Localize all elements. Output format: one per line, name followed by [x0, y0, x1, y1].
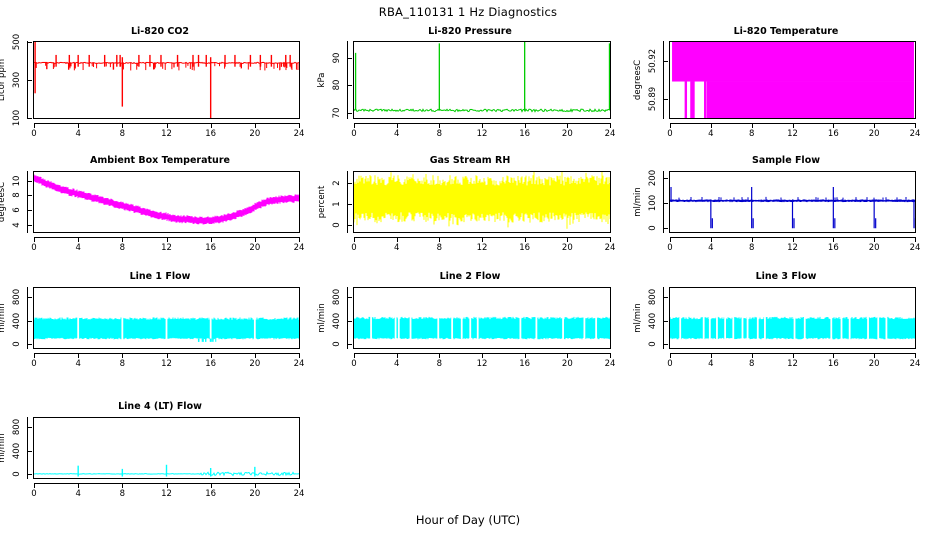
series-li-820-temperature: [670, 42, 915, 118]
y-tick-li-820-pressure-0: [347, 113, 352, 114]
x-tick-label-line-3-flow-5: 20: [862, 359, 886, 369]
panel-title-li-820-temperature: Li-820 Temperature: [636, 26, 936, 37]
x-tick-line-1-flow-0: [34, 353, 35, 358]
y-tick-li-820-co2-1: [27, 80, 32, 81]
x-tick-gas-stream-rh-0: [354, 237, 355, 242]
x-tick-label-li-820-pressure-5: 20: [555, 129, 579, 139]
y-tick-gas-stream-rh-1: [347, 204, 352, 205]
x-tick-line-4-lt-flow-3: [167, 483, 168, 488]
x-tick-label-sample-flow-6: 24: [903, 243, 927, 253]
y-tick-sample-flow-1: [663, 203, 668, 204]
x-tick-sample-flow-3: [793, 237, 794, 242]
x-tick-label-gas-stream-rh-3: 12: [470, 243, 494, 253]
x-tick-line-3-flow-2: [752, 353, 753, 358]
x-tick-label-li-820-co2-5: 20: [243, 129, 267, 139]
x-tick-li-820-co2-1: [78, 123, 79, 128]
x-tick-line-4-lt-flow-2: [122, 483, 123, 488]
x-tick-li-820-co2-5: [255, 123, 256, 128]
y-tick-label-line-1-flow-2: 800: [11, 277, 23, 317]
x-tick-label-ambient-box-temperature-6: 24: [287, 243, 311, 253]
x-tick-label-ambient-box-temperature-5: 20: [243, 243, 267, 253]
x-tick-label-line-2-flow-3: 12: [470, 359, 494, 369]
y-axis-label-line-3-flow: ml/min: [632, 267, 644, 369]
plot-area-sample-flow: [669, 171, 916, 233]
x-tick-label-li-820-co2-6: 24: [287, 129, 311, 139]
x-tick-label-li-820-co2-2: 8: [110, 129, 134, 139]
series-gas-stream-rh: [354, 172, 610, 232]
x-tick-label-li-820-pressure-1: 4: [385, 129, 409, 139]
x-tick-label-line-2-flow-4: 16: [513, 359, 537, 369]
x-tick-li-820-temperature-3: [793, 123, 794, 128]
y-tick-ambient-box-temperature-1: [27, 210, 32, 211]
x-tick-ambient-box-temperature-3: [167, 237, 168, 242]
y-axis-label-li-820-pressure: kPa: [316, 21, 328, 139]
x-tick-label-line-3-flow-1: 4: [699, 359, 723, 369]
x-tick-label-li-820-temperature-4: 16: [821, 129, 845, 139]
figure-canvas: RBA_110131 1 Hz Diagnostics Hour of Day …: [0, 0, 936, 540]
x-tick-li-820-co2-6: [299, 123, 300, 128]
panel-title-line-3-flow: Line 3 Flow: [636, 271, 936, 282]
x-tick-label-gas-stream-rh-2: 8: [427, 243, 451, 253]
y-tick-li-820-co2-0: [27, 118, 32, 119]
y-axis-label-ambient-box-temperature: degreesC: [0, 151, 8, 253]
x-tick-li-820-temperature-0: [670, 123, 671, 128]
x-tick-label-line-4-lt-flow-6: 24: [287, 489, 311, 499]
x-tick-label-gas-stream-rh-6: 24: [598, 243, 622, 253]
plot-area-line-1-flow: [33, 287, 300, 349]
x-tick-li-820-pressure-0: [354, 123, 355, 128]
plot-area-gas-stream-rh: [353, 171, 611, 233]
x-tick-li-820-temperature-6: [915, 123, 916, 128]
x-tick-label-gas-stream-rh-1: 4: [385, 243, 409, 253]
x-tick-label-line-3-flow-6: 24: [903, 359, 927, 369]
x-tick-label-gas-stream-rh-4: 16: [513, 243, 537, 253]
x-tick-label-ambient-box-temperature-3: 12: [155, 243, 179, 253]
x-tick-gas-stream-rh-5: [567, 237, 568, 242]
x-tick-label-li-820-temperature-2: 8: [740, 129, 764, 139]
y-tick-ambient-box-temperature-0: [27, 225, 32, 226]
x-tick-label-sample-flow-1: 4: [699, 243, 723, 253]
x-tick-label-li-820-pressure-0: 0: [342, 129, 366, 139]
x-tick-line-2-flow-1: [397, 353, 398, 358]
panel-title-sample-flow: Sample Flow: [636, 155, 936, 166]
y-axis-label-sample-flow: ml/min: [632, 151, 644, 253]
x-tick-label-gas-stream-rh-0: 0: [342, 243, 366, 253]
x-tick-sample-flow-0: [670, 237, 671, 242]
x-tick-li-820-pressure-5: [567, 123, 568, 128]
x-tick-li-820-pressure-4: [525, 123, 526, 128]
x-tick-label-ambient-box-temperature-4: 16: [199, 243, 223, 253]
panel-title-line-4-lt-flow: Line 4 (LT) Flow: [0, 401, 320, 412]
figure-title: RBA_110131 1 Hz Diagnostics: [0, 5, 936, 19]
x-tick-label-li-820-co2-4: 16: [199, 129, 223, 139]
series-li-820-co2: [34, 42, 299, 118]
x-tick-gas-stream-rh-2: [439, 237, 440, 242]
x-tick-li-820-co2-3: [167, 123, 168, 128]
y-axis-label-line-2-flow: ml/min: [316, 267, 328, 369]
x-tick-label-line-1-flow-6: 24: [287, 359, 311, 369]
x-tick-label-sample-flow-5: 20: [862, 243, 886, 253]
x-tick-label-sample-flow-0: 0: [658, 243, 682, 253]
x-tick-li-820-co2-0: [34, 123, 35, 128]
x-tick-label-line-3-flow-0: 0: [658, 359, 682, 369]
x-tick-label-line-3-flow-4: 16: [821, 359, 845, 369]
x-tick-line-1-flow-1: [78, 353, 79, 358]
x-tick-ambient-box-temperature-2: [122, 237, 123, 242]
x-tick-line-2-flow-3: [482, 353, 483, 358]
x-tick-ambient-box-temperature-4: [211, 237, 212, 242]
x-tick-label-line-1-flow-4: 16: [199, 359, 223, 369]
x-tick-label-ambient-box-temperature-2: 8: [110, 243, 134, 253]
y-tick-line-4-lt-flow-1: [27, 451, 32, 452]
y-tick-li-820-temperature-1: [663, 61, 668, 62]
plot-area-li-820-co2: [33, 41, 300, 119]
x-tick-ambient-box-temperature-5: [255, 237, 256, 242]
x-tick-line-3-flow-4: [833, 353, 834, 358]
panel-title-gas-stream-rh: Gas Stream RH: [320, 155, 620, 166]
x-tick-label-sample-flow-2: 8: [740, 243, 764, 253]
x-tick-label-li-820-temperature-6: 24: [903, 129, 927, 139]
x-tick-line-2-flow-6: [610, 353, 611, 358]
x-tick-line-3-flow-5: [874, 353, 875, 358]
x-tick-label-line-2-flow-2: 8: [427, 359, 451, 369]
y-axis-label-li-820-co2: Licor ppm: [0, 21, 8, 139]
x-tick-ambient-box-temperature-6: [299, 237, 300, 242]
x-tick-label-line-3-flow-2: 8: [740, 359, 764, 369]
y-tick-line-2-flow-0: [347, 344, 352, 345]
x-tick-label-li-820-pressure-2: 8: [427, 129, 451, 139]
x-tick-sample-flow-2: [752, 237, 753, 242]
plot-area-line-4-lt-flow: [33, 417, 300, 479]
x-tick-li-820-temperature-2: [752, 123, 753, 128]
x-tick-line-4-lt-flow-4: [211, 483, 212, 488]
y-tick-li-820-pressure-2: [347, 58, 352, 59]
y-tick-label-line-2-flow-2: 800: [331, 277, 343, 317]
x-tick-sample-flow-6: [915, 237, 916, 242]
y-axis-line-li-820-temperature: [663, 41, 664, 119]
x-tick-label-gas-stream-rh-5: 20: [555, 243, 579, 253]
y-tick-gas-stream-rh-0: [347, 225, 352, 226]
series-line-2-flow: [354, 288, 610, 348]
x-tick-label-li-820-co2-3: 12: [155, 129, 179, 139]
x-tick-label-li-820-temperature-0: 0: [658, 129, 682, 139]
y-tick-line-3-flow-2: [663, 297, 668, 298]
x-tick-label-sample-flow-4: 16: [821, 243, 845, 253]
x-tick-label-ambient-box-temperature-0: 0: [22, 243, 46, 253]
y-tick-sample-flow-2: [663, 178, 668, 179]
x-tick-label-line-1-flow-2: 8: [110, 359, 134, 369]
x-tick-line-2-flow-2: [439, 353, 440, 358]
x-tick-label-li-820-temperature-3: 12: [781, 129, 805, 139]
y-tick-label-line-4-lt-flow-2: 800: [11, 407, 23, 447]
x-tick-li-820-temperature-1: [711, 123, 712, 128]
y-tick-ambient-box-temperature-3: [27, 181, 32, 182]
y-axis-label-gas-stream-rh: percent: [316, 151, 328, 253]
y-tick-line-4-lt-flow-0: [27, 474, 32, 475]
panel-title-line-2-flow: Line 2 Flow: [320, 271, 620, 282]
y-axis-line-sample-flow: [663, 171, 664, 233]
x-tick-line-1-flow-4: [211, 353, 212, 358]
plot-area-ambient-box-temperature: [33, 171, 300, 233]
x-tick-label-line-1-flow-0: 0: [22, 359, 46, 369]
x-tick-line-4-lt-flow-1: [78, 483, 79, 488]
x-tick-label-line-2-flow-0: 0: [342, 359, 366, 369]
y-tick-label-ambient-box-temperature-3: 10: [11, 161, 23, 201]
y-tick-gas-stream-rh-2: [347, 183, 352, 184]
series-sample-flow: [670, 172, 915, 232]
y-tick-label-li-820-temperature-0: 50.89: [647, 79, 659, 119]
x-tick-line-2-flow-0: [354, 353, 355, 358]
y-tick-label-sample-flow-2: 200: [647, 158, 659, 198]
x-tick-label-line-4-lt-flow-4: 16: [199, 489, 223, 499]
x-tick-gas-stream-rh-1: [397, 237, 398, 242]
x-tick-label-line-4-lt-flow-2: 8: [110, 489, 134, 499]
y-tick-line-2-flow-1: [347, 321, 352, 322]
x-tick-label-li-820-temperature-1: 4: [699, 129, 723, 139]
x-tick-label-line-2-flow-1: 4: [385, 359, 409, 369]
x-tick-sample-flow-1: [711, 237, 712, 242]
x-tick-line-2-flow-5: [567, 353, 568, 358]
x-tick-label-li-820-pressure-3: 12: [470, 129, 494, 139]
y-tick-line-3-flow-1: [663, 321, 668, 322]
series-line-4-lt-flow: [34, 418, 299, 478]
y-tick-line-1-flow-2: [27, 297, 32, 298]
y-tick-label-li-820-temperature-1: 50.92: [647, 41, 659, 81]
x-tick-label-line-4-lt-flow-1: 4: [66, 489, 90, 499]
x-tick-label-li-820-co2-1: 4: [66, 129, 90, 139]
plot-area-li-820-pressure: [353, 41, 611, 119]
x-tick-line-3-flow-6: [915, 353, 916, 358]
x-tick-label-line-2-flow-6: 24: [598, 359, 622, 369]
x-tick-line-3-flow-1: [711, 353, 712, 358]
figure-xlabel: Hour of Day (UTC): [0, 513, 936, 527]
plot-area-line-3-flow: [669, 287, 916, 349]
y-tick-line-1-flow-0: [27, 344, 32, 345]
y-tick-label-li-820-co2-2: 500: [11, 22, 23, 62]
panel-title-li-820-pressure: Li-820 Pressure: [320, 26, 620, 37]
x-tick-label-ambient-box-temperature-1: 4: [66, 243, 90, 253]
y-axis-label-li-820-temperature: degreesC: [632, 21, 644, 139]
y-tick-line-2-flow-2: [347, 297, 352, 298]
x-tick-ambient-box-temperature-0: [34, 237, 35, 242]
y-tick-li-820-temperature-0: [663, 99, 668, 100]
series-ambient-box-temperature: [34, 172, 299, 232]
x-tick-label-li-820-pressure-4: 16: [513, 129, 537, 139]
x-tick-li-820-temperature-5: [874, 123, 875, 128]
y-tick-line-1-flow-1: [27, 321, 32, 322]
y-tick-li-820-co2-2: [27, 42, 32, 43]
panel-title-line-1-flow: Line 1 Flow: [0, 271, 320, 282]
x-tick-line-1-flow-3: [167, 353, 168, 358]
x-tick-label-line-4-lt-flow-0: 0: [22, 489, 46, 499]
x-tick-label-li-820-pressure-6: 24: [598, 129, 622, 139]
x-tick-gas-stream-rh-4: [525, 237, 526, 242]
y-tick-label-line-3-flow-2: 800: [647, 277, 659, 317]
x-tick-line-1-flow-6: [299, 353, 300, 358]
series-line-1-flow: [34, 288, 299, 348]
x-tick-gas-stream-rh-3: [482, 237, 483, 242]
x-tick-line-4-lt-flow-0: [34, 483, 35, 488]
x-tick-ambient-box-temperature-1: [78, 237, 79, 242]
x-tick-li-820-co2-4: [211, 123, 212, 128]
x-tick-line-4-lt-flow-6: [299, 483, 300, 488]
x-tick-label-line-1-flow-1: 4: [66, 359, 90, 369]
x-tick-li-820-pressure-3: [482, 123, 483, 128]
x-tick-li-820-co2-2: [122, 123, 123, 128]
x-tick-label-line-1-flow-3: 12: [155, 359, 179, 369]
x-tick-label-line-4-lt-flow-3: 12: [155, 489, 179, 499]
x-tick-label-line-3-flow-3: 12: [781, 359, 805, 369]
y-tick-line-3-flow-0: [663, 344, 668, 345]
plot-area-line-2-flow: [353, 287, 611, 349]
x-tick-gas-stream-rh-6: [610, 237, 611, 242]
x-tick-li-820-pressure-2: [439, 123, 440, 128]
x-tick-label-line-1-flow-5: 20: [243, 359, 267, 369]
x-tick-line-3-flow-0: [670, 353, 671, 358]
x-tick-line-2-flow-4: [525, 353, 526, 358]
y-axis-label-line-1-flow: ml/min: [0, 267, 8, 369]
y-axis-line-li-820-pressure: [347, 41, 348, 119]
x-tick-label-li-820-temperature-5: 20: [862, 129, 886, 139]
y-tick-ambient-box-temperature-2: [27, 195, 32, 196]
x-tick-label-line-4-lt-flow-5: 20: [243, 489, 267, 499]
y-tick-label-gas-stream-rh-2: 2: [331, 163, 343, 203]
x-tick-line-3-flow-3: [793, 353, 794, 358]
x-tick-label-line-2-flow-5: 20: [555, 359, 579, 369]
series-li-820-pressure: [354, 42, 610, 118]
series-line-3-flow: [670, 288, 915, 348]
y-axis-line-gas-stream-rh: [347, 171, 348, 233]
plot-area-li-820-temperature: [669, 41, 916, 119]
y-axis-label-line-4-lt-flow: ml/min: [0, 397, 8, 499]
x-tick-line-1-flow-5: [255, 353, 256, 358]
x-tick-line-4-lt-flow-5: [255, 483, 256, 488]
y-tick-sample-flow-0: [663, 228, 668, 229]
x-tick-sample-flow-5: [874, 237, 875, 242]
y-tick-label-li-820-pressure-2: 90: [331, 38, 343, 78]
x-tick-label-sample-flow-3: 12: [781, 243, 805, 253]
x-tick-li-820-pressure-1: [397, 123, 398, 128]
y-tick-label-li-820-co2-1: 300: [11, 60, 23, 100]
y-tick-line-4-lt-flow-2: [27, 427, 32, 428]
x-tick-line-1-flow-2: [122, 353, 123, 358]
x-tick-label-li-820-co2-0: 0: [22, 129, 46, 139]
x-tick-li-820-temperature-4: [833, 123, 834, 128]
panel-title-li-820-co2: Li-820 CO2: [0, 26, 320, 37]
y-tick-li-820-pressure-1: [347, 85, 352, 86]
panel-title-ambient-box-temperature: Ambient Box Temperature: [0, 155, 320, 166]
x-tick-li-820-pressure-6: [610, 123, 611, 128]
x-tick-sample-flow-4: [833, 237, 834, 242]
